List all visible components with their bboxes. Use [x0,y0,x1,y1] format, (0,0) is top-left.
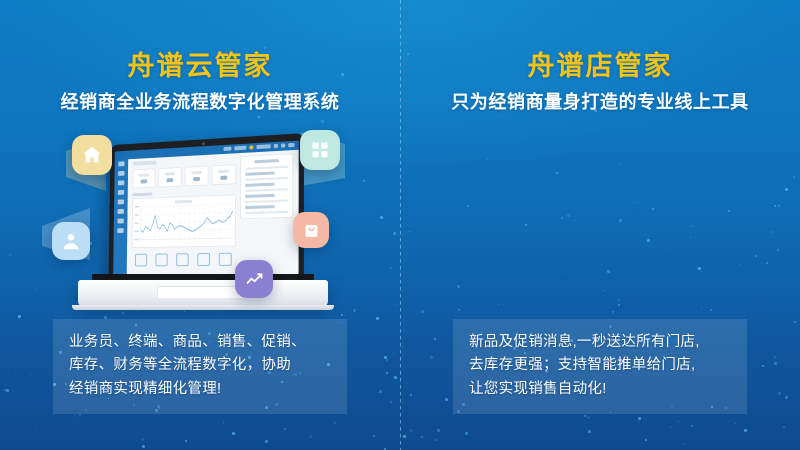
caption-line: 业务员、终端、商品、销售、促销、 [69,331,331,354]
webcam-icon [202,142,205,145]
badge-products[interactable] [293,212,329,248]
sidebar-item[interactable] [118,199,124,204]
promo-banner: 舟谱云管家 经销商全业务流程数字化管理系统 [0,0,800,450]
chart-canvas [133,195,236,247]
dashboard-body [127,141,299,276]
left-caption-box: 业务员、终端、商品、销售、促销、 库存、财务等全流程数字化，协助 经销商实现精细… [53,319,347,414]
quick-action-icon[interactable] [218,252,231,265]
badge-house[interactable] [72,135,112,175]
chart-section-title [132,192,152,196]
sidebar-item[interactable] [117,219,123,224]
caption-line: 让您实现销售自动化! [469,378,731,401]
caption-line: 新品及促销消息,一秒送达所有门店, [469,331,731,354]
badge-apps[interactable] [300,130,340,170]
user-group-icon [60,230,82,252]
right-panel-subtitle: 只为经销商量身打造的专业线上工具 [400,88,800,114]
quick-action-icon[interactable] [156,253,168,266]
trend-chart-icon [244,269,265,290]
laptop-base [78,280,328,307]
right-panel-title: 舟谱店管家 [400,44,800,83]
sidebar-item[interactable] [117,228,123,233]
sidebar-item[interactable] [118,180,124,185]
quick-action-icon[interactable] [135,253,147,266]
sidebar-item[interactable] [118,171,124,176]
badge-customers[interactable] [52,222,90,260]
right-caption-box: 新品及促销消息,一秒送达所有门店, 去库存更强；支持智能推单给门店, 让您实现销… [453,319,747,414]
house-icon [81,144,103,166]
shopping-bag-icon [302,221,321,240]
dashboard-side-panel [240,153,294,219]
sidebar-item[interactable] [118,161,124,166]
stat-card [184,166,208,186]
quick-action-icon[interactable] [176,253,189,266]
stat-card [132,168,155,188]
laptop-mockup [78,138,328,313]
caption-line: 库存、财务等全流程数字化，协助 [69,354,331,377]
sidebar-item[interactable] [118,209,124,214]
laptop-lid [109,133,304,280]
left-panel-subtitle: 经销商全业务流程数字化管理系统 [0,88,400,114]
badge-reports[interactable] [235,260,273,298]
caption-line: 经销商实现精细化管理! [69,378,331,401]
breadcrumb [133,161,157,166]
stat-card [158,167,182,187]
line-chart [132,194,236,248]
right-panel: 舟谱店管家 只为经销商量身打造的专业线上工具 [400,0,800,450]
quick-action-icon[interactable] [197,252,210,265]
grid-apps-icon [310,140,330,160]
caption-line: 去库存更强；支持智能推单给门店, [469,354,731,377]
quick-action-row [131,252,235,266]
sidebar-item[interactable] [118,190,124,195]
laptop-screen [113,141,299,276]
stat-card [211,164,236,185]
laptop-front-lip [72,305,334,310]
left-panel: 舟谱云管家 经销商全业务流程数字化管理系统 [0,0,400,450]
left-panel-title: 舟谱云管家 [0,44,400,83]
